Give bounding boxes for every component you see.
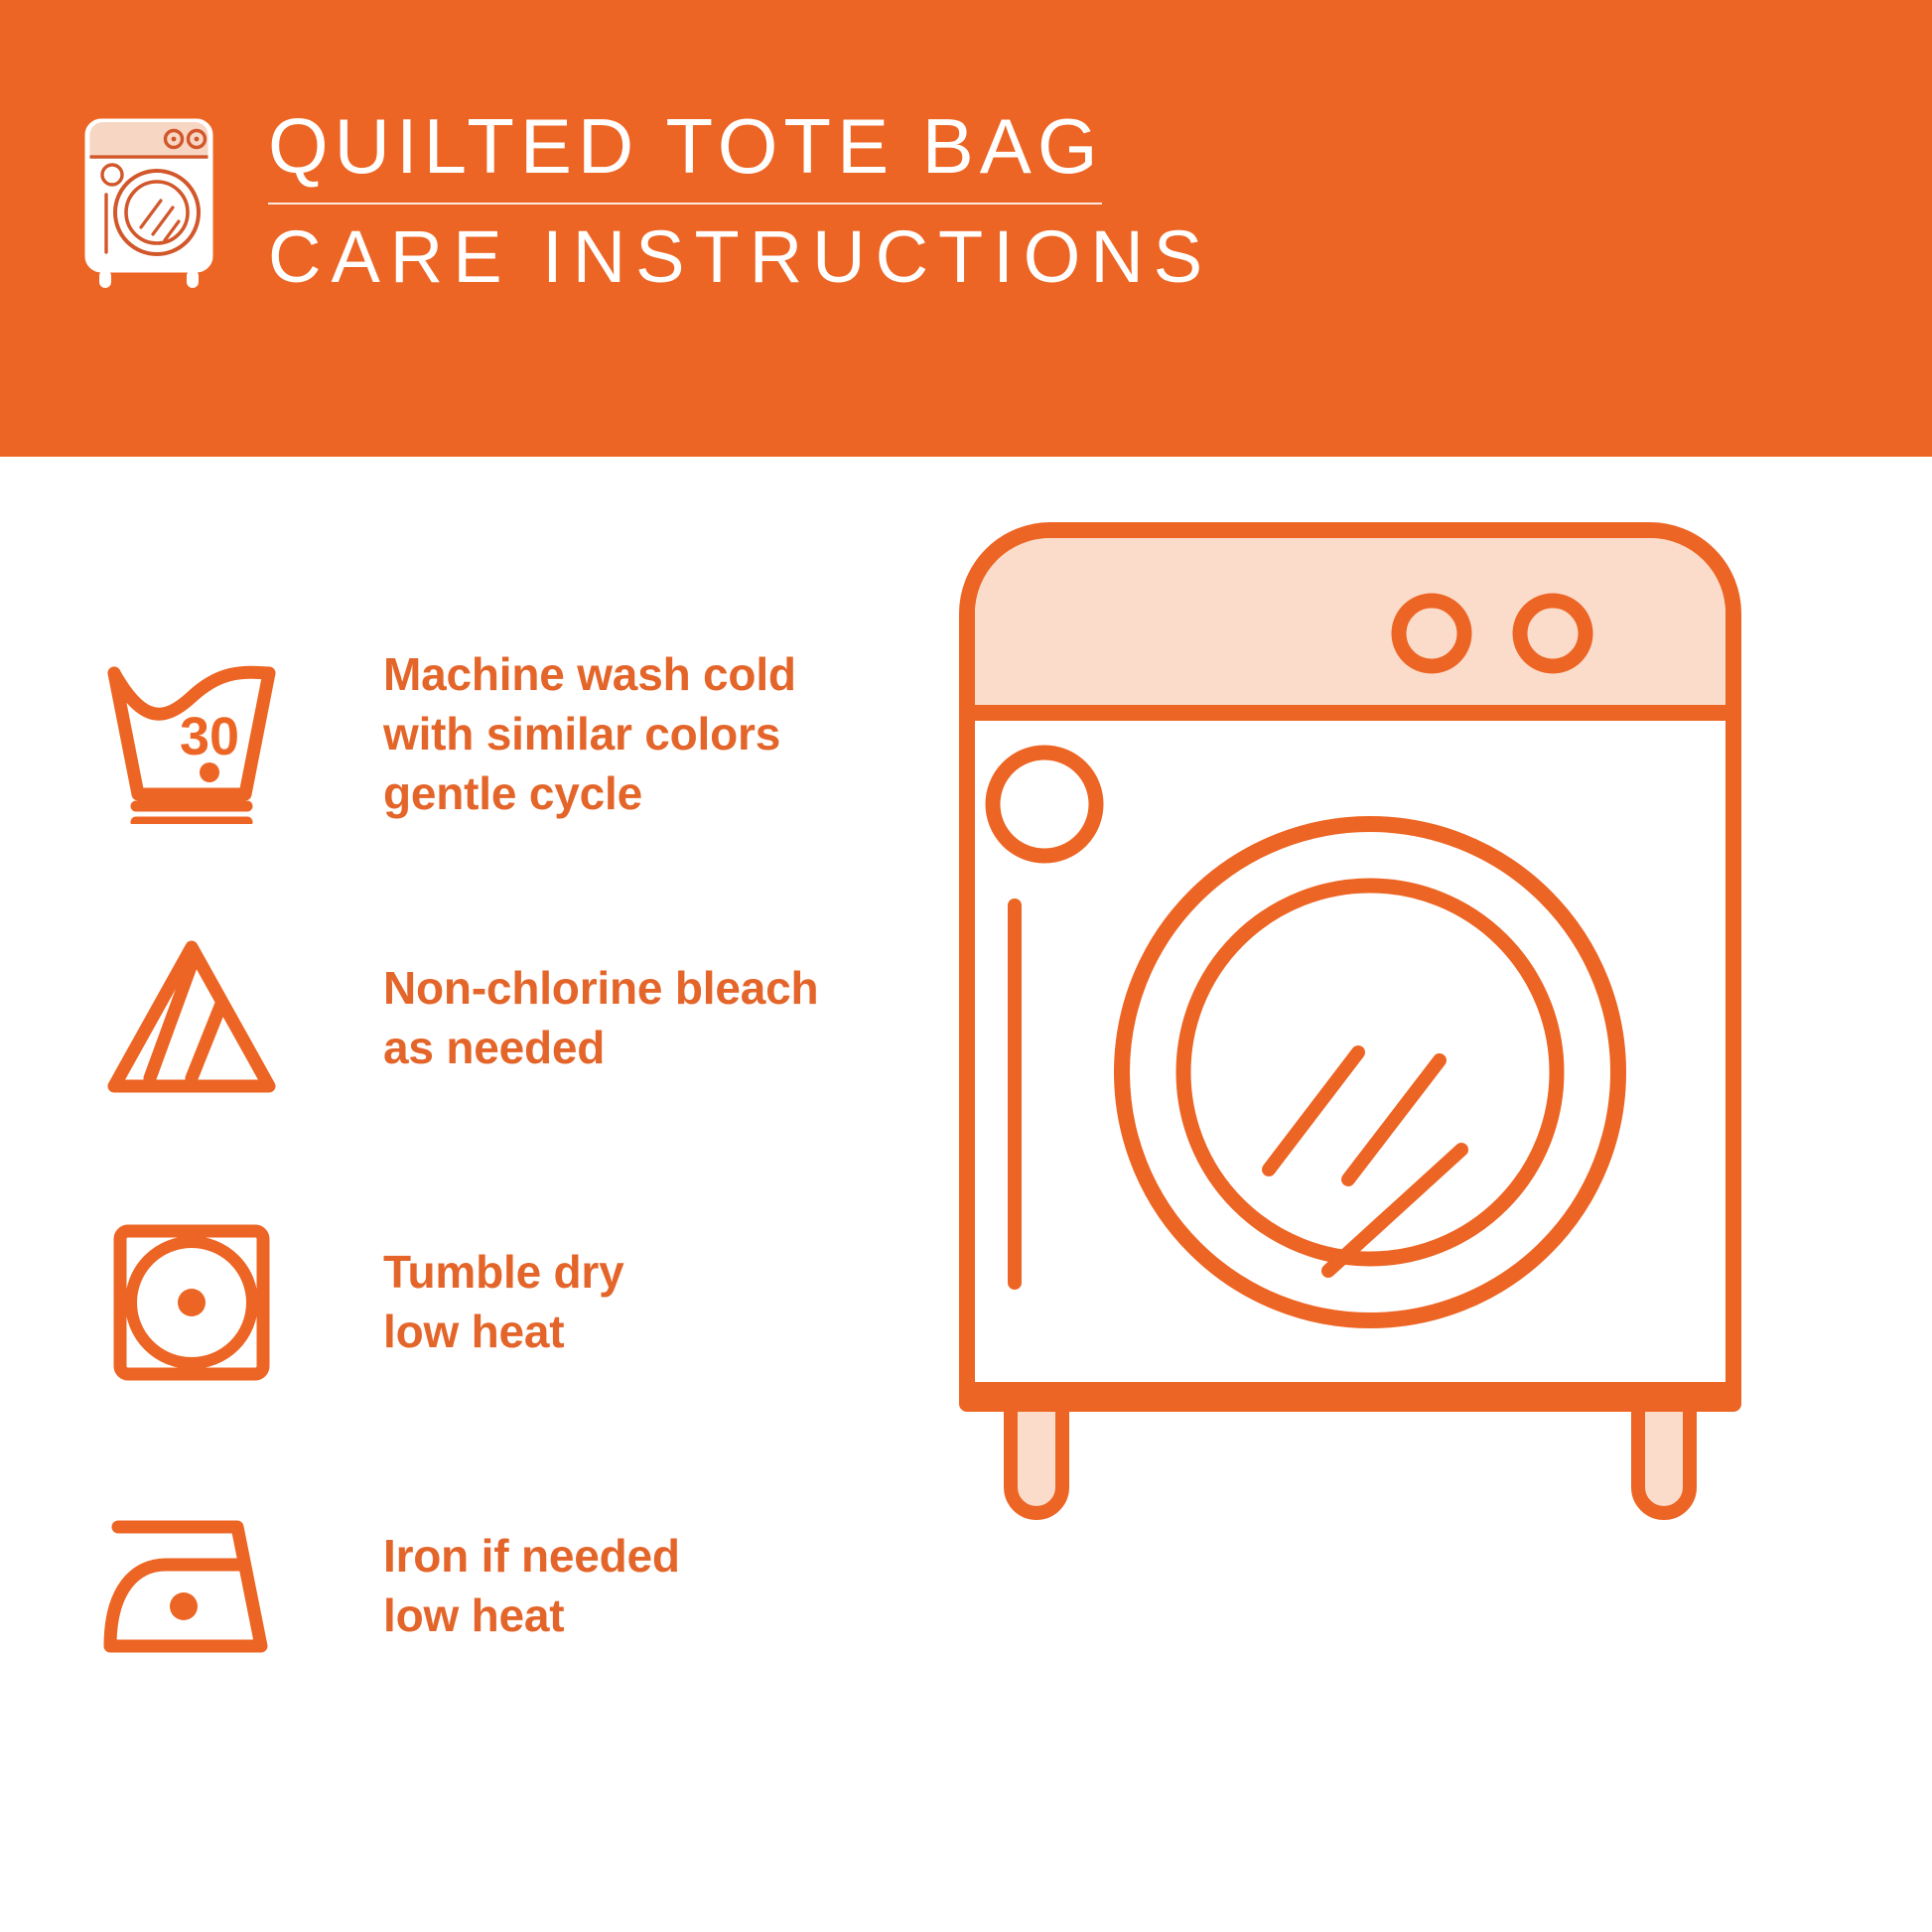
title-block: QUILTED TOTE BAG CARE INSTRUCTIONS <box>268 107 1102 294</box>
care-text-line: as needed <box>383 1019 818 1078</box>
content-area: 30 Machine wash cold with similar colors… <box>0 457 1932 1932</box>
care-text-line: Iron if needed <box>383 1527 680 1587</box>
care-instruction-list: 30 Machine wash cold with similar colors… <box>87 635 961 1686</box>
care-item-bleach: Non-chlorine bleach as needed <box>87 919 961 1118</box>
iron-icon <box>87 1492 296 1681</box>
page-subtitle: CARE INSTRUCTIONS <box>268 220 1102 294</box>
care-text-line: Machine wash cold <box>383 645 796 705</box>
care-item-machine-wash-text: Machine wash cold with similar colors ge… <box>383 645 796 823</box>
care-item-iron-text: Iron if needed low heat <box>383 1527 680 1646</box>
washing-machine-illustration <box>953 516 1747 1529</box>
washing-machine-icon <box>79 113 218 292</box>
care-item-machine-wash: 30 Machine wash cold with similar colors… <box>87 635 961 834</box>
wash-tub-30-icon: 30 <box>87 640 296 829</box>
care-text-line: low heat <box>383 1303 624 1362</box>
tumble-dry-icon <box>87 1208 296 1397</box>
wash-temperature-value: 30 <box>180 707 239 766</box>
care-item-tumble-dry: Tumble dry low heat <box>87 1203 961 1402</box>
care-text-line: Non-chlorine bleach <box>383 959 818 1019</box>
header-content: QUILTED TOTE BAG CARE INSTRUCTIONS <box>79 107 1102 294</box>
care-text-line: Tumble dry <box>383 1243 624 1303</box>
care-text-line: with similar colors <box>383 705 796 764</box>
bleach-triangle-icon <box>87 924 296 1113</box>
title-divider <box>268 203 1102 205</box>
header-banner: QUILTED TOTE BAG CARE INSTRUCTIONS <box>0 0 1932 457</box>
care-item-bleach-text: Non-chlorine bleach as needed <box>383 959 818 1078</box>
care-text-line: gentle cycle <box>383 764 796 824</box>
care-item-iron: Iron if needed low heat <box>87 1487 961 1686</box>
care-item-tumble-dry-text: Tumble dry low heat <box>383 1243 624 1362</box>
care-text-line: low heat <box>383 1587 680 1646</box>
page-title: QUILTED TOTE BAG <box>268 107 1102 185</box>
